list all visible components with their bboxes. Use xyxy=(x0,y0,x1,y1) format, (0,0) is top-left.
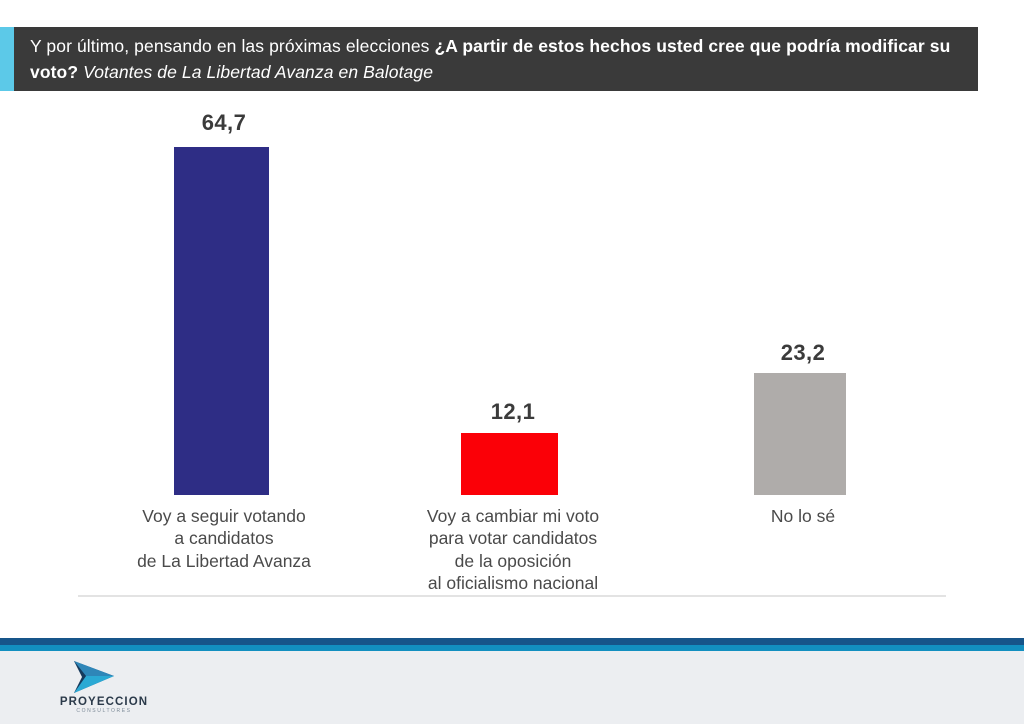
bar-column-1: 64,7 xyxy=(78,100,370,495)
footer-bar: PROYECCION CONSULTORES proyeccionmyc@gma… xyxy=(0,651,1024,724)
bar-value-label-2: 12,1 xyxy=(370,399,656,425)
title-box: Y por último, pensando en las próximas e… xyxy=(14,27,978,91)
company-logo: PROYECCION CONSULTORES xyxy=(44,659,164,717)
bar-category-label-2: Voy a cambiar mi voto para votar candida… xyxy=(370,505,656,595)
title-lead: Y por último, pensando en las próximas e… xyxy=(30,36,434,56)
bar-group-1: 64,7 Voy a seguir votando a candidatos d… xyxy=(78,100,370,610)
bar-value-label-3: 23,2 xyxy=(660,340,946,366)
chart-plot-area: 64,7 Voy a seguir votando a candidatos d… xyxy=(0,100,1024,610)
bar-rect-2[interactable] xyxy=(461,433,558,495)
footer-rule-dark xyxy=(0,638,1024,645)
arrow-logo-icon xyxy=(66,659,122,695)
bar-column-2: 12,1 xyxy=(370,100,656,495)
bar-column-3: 23,2 xyxy=(660,100,946,495)
bar-category-label-1: Voy a seguir votando a candidatos de La … xyxy=(78,505,370,572)
bar-rect-3[interactable] xyxy=(754,373,846,495)
page-title: Y por último, pensando en las próximas e… xyxy=(30,34,960,85)
logo-wordmark: PROYECCION xyxy=(44,696,164,708)
bar-group-3: 23,2 No lo sé xyxy=(660,100,946,610)
bar-group-2: 12,1 Voy a cambiar mi voto para votar ca… xyxy=(370,100,656,610)
title-accent-bar xyxy=(0,27,14,91)
bar-rect-1[interactable] xyxy=(174,147,269,495)
title-band: Y por último, pensando en las próximas e… xyxy=(0,27,978,91)
slide-root: Y por último, pensando en las próximas e… xyxy=(0,0,1024,724)
title-subject: Votantes de La Libertad Avanza en Balota… xyxy=(78,62,433,82)
bar-category-label-3: No lo sé xyxy=(660,505,946,527)
bar-value-label-1: 64,7 xyxy=(78,110,370,136)
logo-tagline: CONSULTORES xyxy=(44,708,164,714)
